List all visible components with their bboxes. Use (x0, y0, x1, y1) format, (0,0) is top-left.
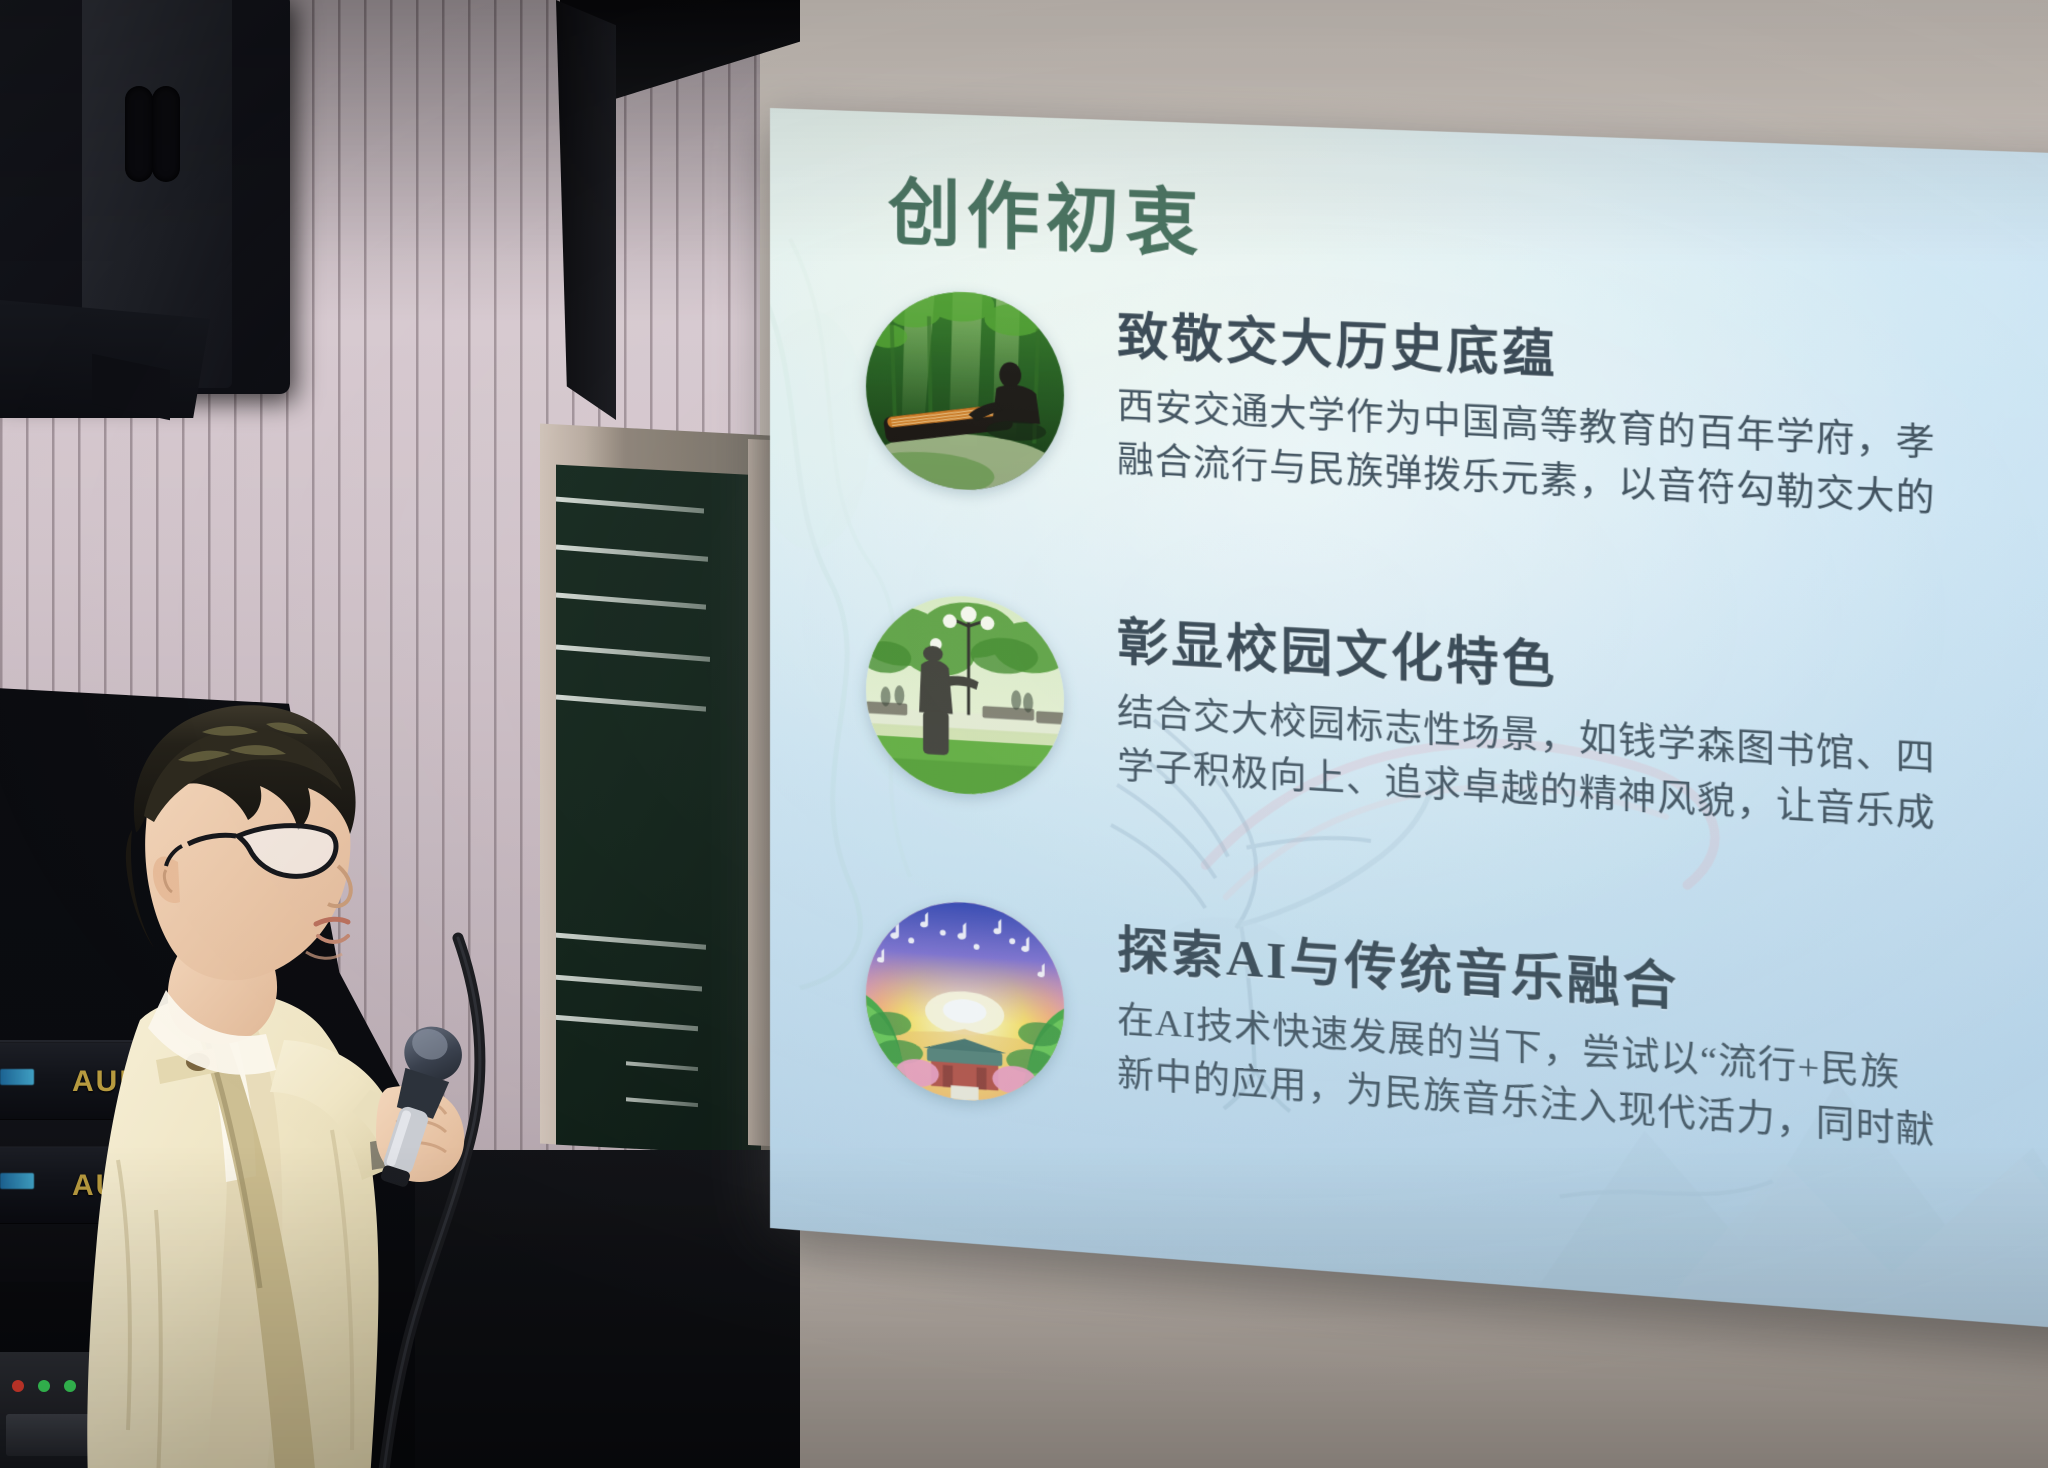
console-led-green (38, 1380, 50, 1392)
console-led-red (12, 1380, 24, 1392)
campus-statue-lawn-scene-image (866, 591, 1064, 800)
rack-led-indicator (0, 1069, 34, 1085)
speaker-port-icon (152, 86, 180, 182)
presenter (70, 690, 630, 1468)
rack-led-indicator (0, 1173, 34, 1189)
slide-title: 创作初衷 (888, 152, 1205, 270)
projection-screen: 创作初衷 (770, 108, 2048, 1333)
slide-section-1: 致敬交大历史底蕴 西安交通大学作为中国高等教育的百年学府，孝 融合流行与民族弹拨… (866, 288, 2048, 547)
sunrise-gate-music-notes-illustration-image (866, 896, 1064, 1107)
slide-section-2: 彰显校园文化特色 结合交大校园标志性场景，如钱学森图书馆、四 学子积极向上、追求… (866, 591, 2048, 864)
presenter-head (126, 705, 356, 980)
speaker-port-icon (125, 86, 153, 182)
screenshot-root: AUD AUD (0, 0, 2048, 1468)
guqin-player-in-bamboo-forest-image (866, 288, 1064, 494)
